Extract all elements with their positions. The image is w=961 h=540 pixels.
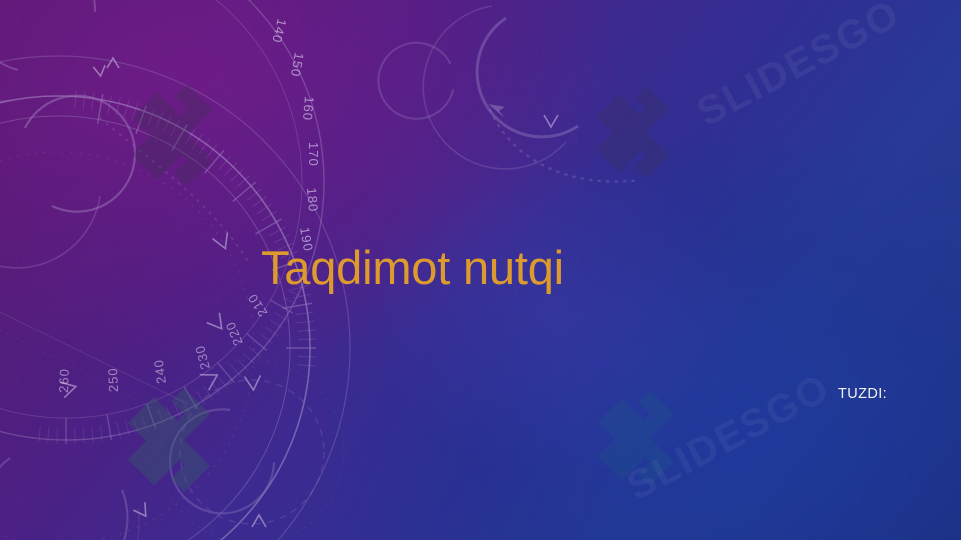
slide-byline-label: TUZDI:: [838, 386, 887, 402]
presentation-title-slide: 140 150 160 170 180 190 210 220 230 240 …: [0, 0, 961, 540]
slide-title: Taqdimot nutqi: [261, 240, 564, 295]
